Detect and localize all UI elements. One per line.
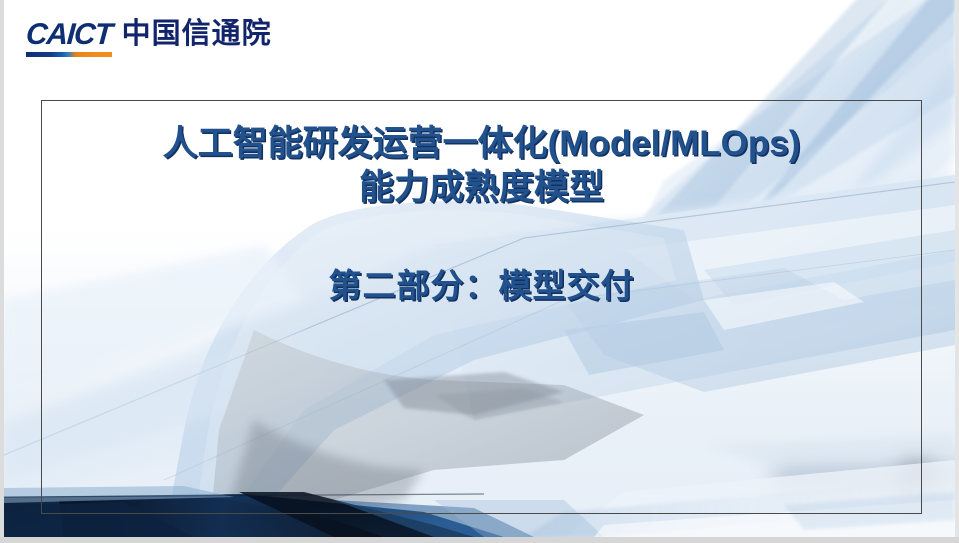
page-title: 人工智能研发运营一体化(Model/MLOps) 能力成熟度模型	[41, 122, 922, 211]
caict-logo: CAICT 中国信通院	[26, 20, 272, 57]
logo-wordmark-block: CAICT	[26, 20, 112, 57]
page-subtitle: 第二部分：模型交付	[41, 211, 922, 307]
logo-underline-accent	[26, 52, 112, 57]
bottom-gutter	[0, 537, 959, 543]
left-gutter	[0, 0, 4, 543]
title-block: 人工智能研发运营一体化(Model/MLOps) 能力成熟度模型 第二部分：模型…	[41, 122, 922, 307]
logo-chinese-name: 中国信通院	[122, 20, 272, 57]
slide-root: CAICT 中国信通院 人工智能研发运营一体化(Model/MLOps) 能力成…	[0, 0, 959, 543]
logo-wordmark: CAICT	[25, 20, 113, 50]
slide-canvas: CAICT 中国信通院 人工智能研发运营一体化(Model/MLOps) 能力成…	[4, 0, 955, 537]
header: CAICT 中国信通院	[26, 15, 272, 61]
right-gutter	[955, 0, 959, 543]
